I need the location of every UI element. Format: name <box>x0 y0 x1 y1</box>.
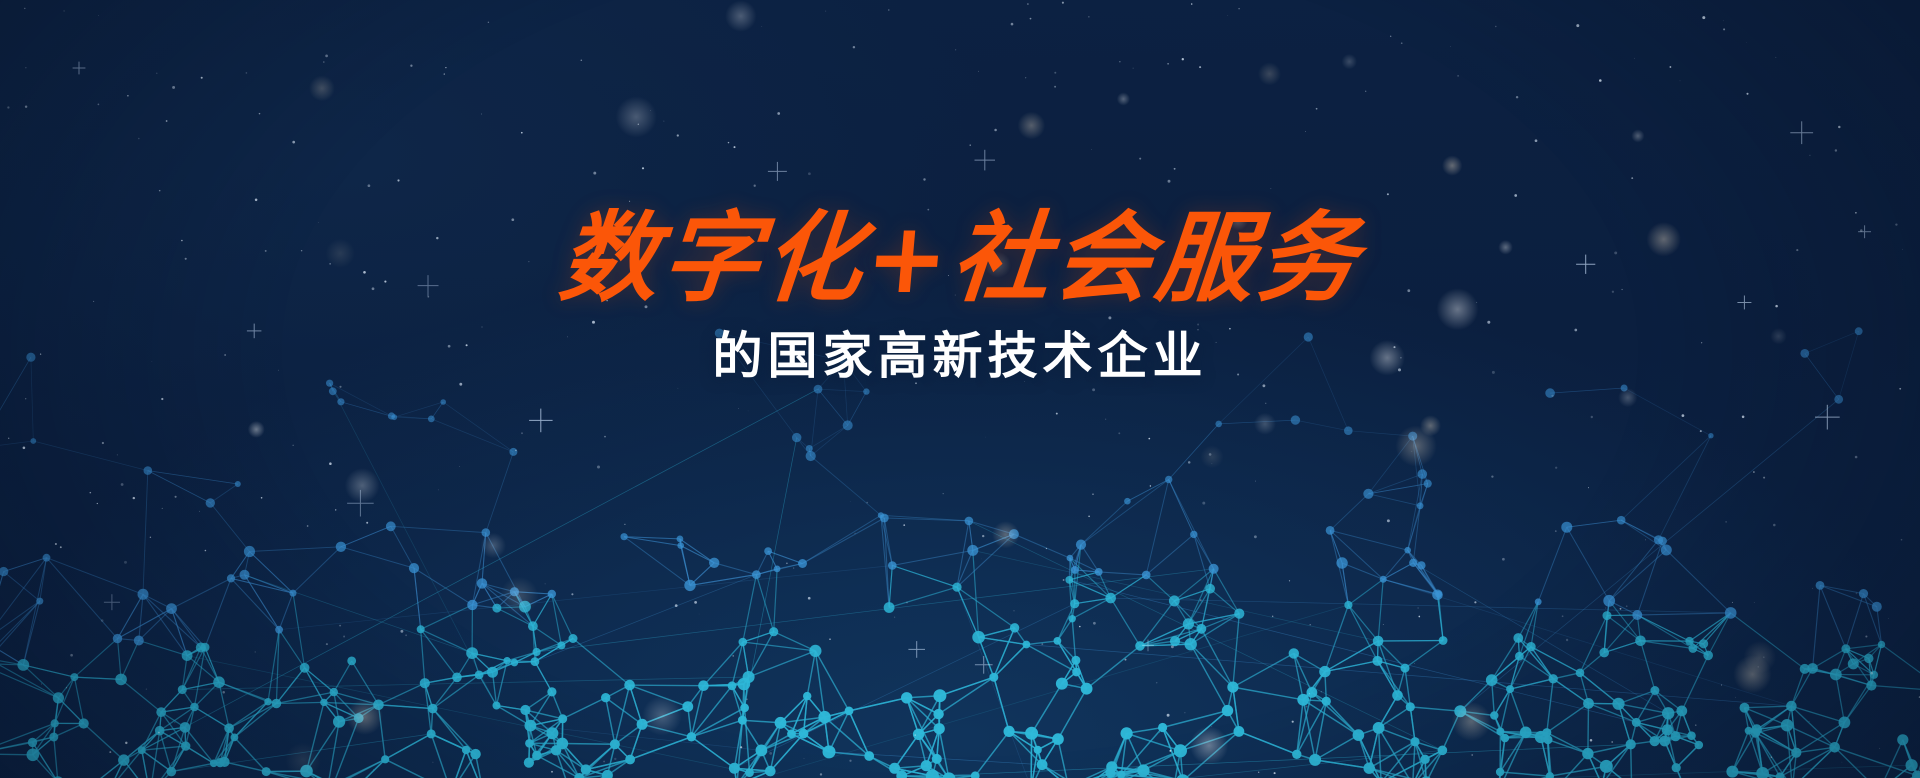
hero-headline: 数字化+社会服务 <box>0 208 1920 312</box>
hero-subline: 的国家高新技术企业 <box>0 326 1920 386</box>
hero-banner: 数字化+社会服务 的国家高新技术企业 <box>0 0 1920 778</box>
hero-text-block: 数字化+社会服务 的国家高新技术企业 <box>0 208 1920 386</box>
network-mesh <box>0 0 1920 778</box>
